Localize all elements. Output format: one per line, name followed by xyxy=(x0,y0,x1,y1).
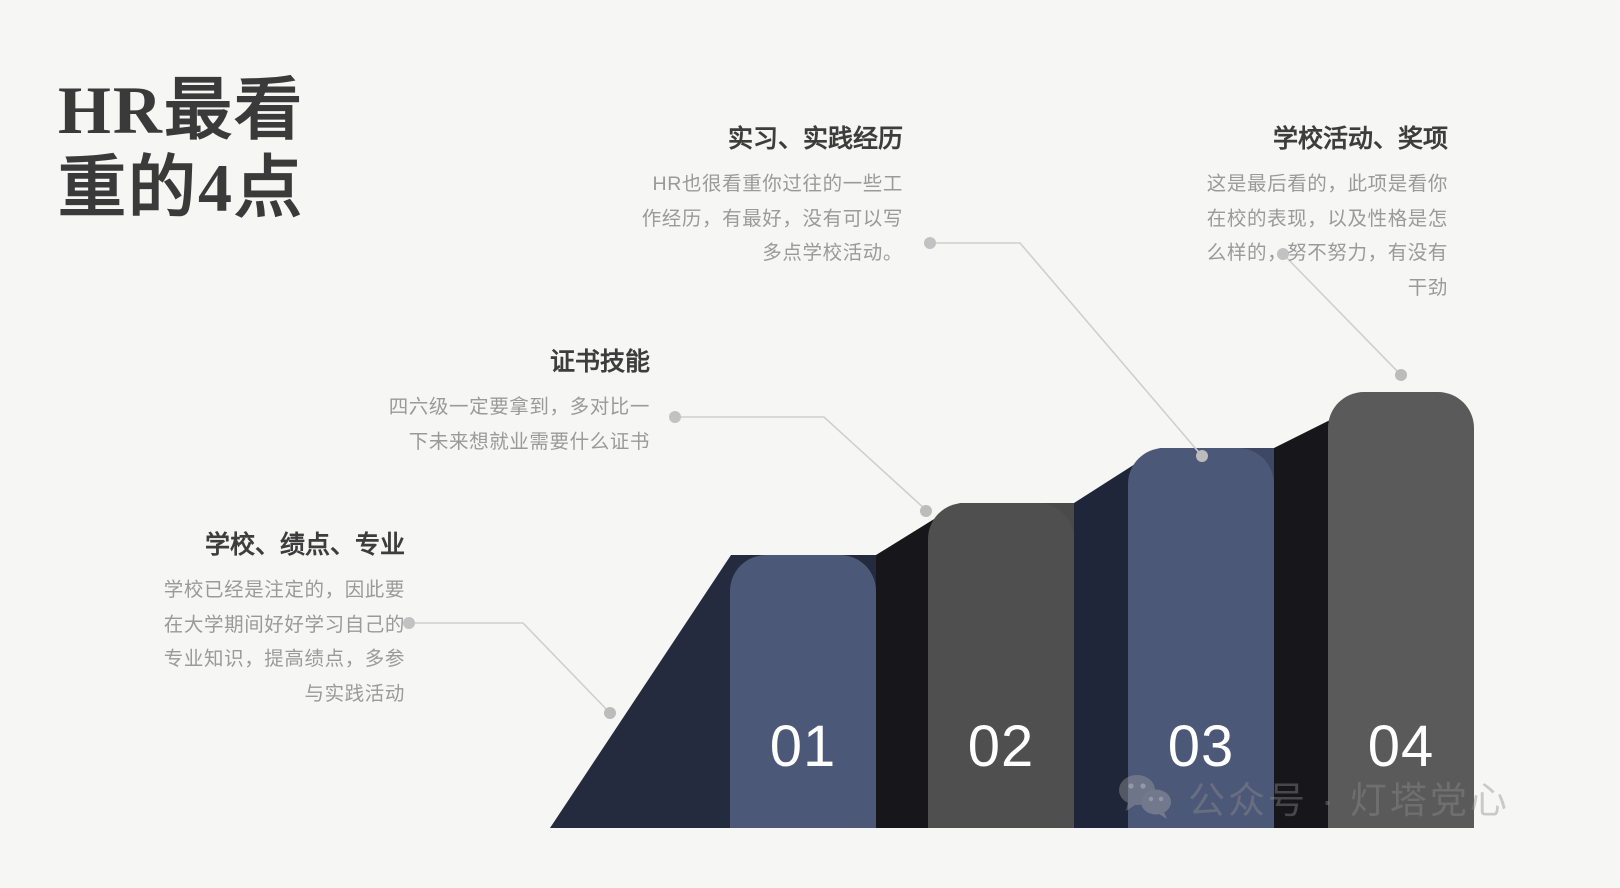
bar-label-03: 03 xyxy=(1128,718,1274,776)
connector-01 xyxy=(403,617,616,719)
page-title-line-1: HR最看 xyxy=(58,72,488,150)
callout-04-body-line-3: 么样的，努不努力，有没有 xyxy=(1108,236,1448,271)
callout-01-body-line-2: 在大学期间好好学习自己的 xyxy=(60,608,405,643)
callout-01-body-line-3: 专业知识，提高绩点，多参 xyxy=(60,642,405,677)
page-title-line-2: 重的4点 xyxy=(58,150,488,228)
callout-03: 实习、实践经历 HR也很看重你过往的一些工 作经历，有最好，没有可以写 多点学校… xyxy=(528,122,903,271)
callout-01-body-line-1: 学校已经是注定的，因此要 xyxy=(60,573,405,608)
callout-03-heading: 实习、实践经历 xyxy=(528,122,903,157)
callout-02-body-line-1: 四六级一定要拿到，多对比一 xyxy=(290,390,650,425)
callout-03-body: HR也很看重你过往的一些工 作经历，有最好，没有可以写 多点学校活动。 xyxy=(528,167,903,271)
callout-04-heading: 学校活动、奖项 xyxy=(1108,122,1448,157)
baseline-mask xyxy=(0,828,1620,888)
staircase-ramp-navy xyxy=(550,555,731,828)
callout-02-body-line-2: 下未来想就业需要什么证书 xyxy=(290,425,650,460)
callout-01-heading: 学校、绩点、专业 xyxy=(60,528,405,563)
callout-01-body-line-4: 与实践活动 xyxy=(60,677,405,712)
callout-04-body-line-4: 干劲 xyxy=(1108,271,1448,306)
bar-label-02: 02 xyxy=(928,718,1074,776)
bar-label-04: 04 xyxy=(1328,718,1474,776)
infographic-canvas: HR最看 重的4点 学校、绩点、专业 学校已经是注定的，因此要 在大学期间好好学… xyxy=(0,0,1620,888)
callout-02-body: 四六级一定要拿到，多对比一 下未来想就业需要什么证书 xyxy=(290,390,650,459)
bar-label-01: 01 xyxy=(730,718,876,776)
callout-04: 学校活动、奖项 这是最后看的，此项是看你 在校的表现，以及性格是怎 么样的，努不… xyxy=(1108,122,1448,306)
callout-04-body-line-1: 这是最后看的，此项是看你 xyxy=(1108,167,1448,202)
callout-04-body-line-2: 在校的表现，以及性格是怎 xyxy=(1108,202,1448,237)
callout-03-body-line-3: 多点学校活动。 xyxy=(528,236,903,271)
callout-04-body: 这是最后看的，此项是看你 在校的表现，以及性格是怎 么样的，努不努力，有没有 干… xyxy=(1108,167,1448,306)
callout-01: 学校、绩点、专业 学校已经是注定的，因此要 在大学期间好好学习自己的 专业知识，… xyxy=(60,528,405,712)
callout-02-heading: 证书技能 xyxy=(290,345,650,380)
page-title: HR最看 重的4点 xyxy=(58,72,488,227)
callout-03-body-line-1: HR也很看重你过往的一些工 xyxy=(528,167,903,202)
connector-02 xyxy=(669,411,932,517)
callout-01-body: 学校已经是注定的，因此要 在大学期间好好学习自己的 专业知识，提高绩点，多参 与… xyxy=(60,573,405,712)
callout-02: 证书技能 四六级一定要拿到，多对比一 下未来想就业需要什么证书 xyxy=(290,345,650,459)
callout-03-body-line-2: 作经历，有最好，没有可以写 xyxy=(528,202,903,237)
